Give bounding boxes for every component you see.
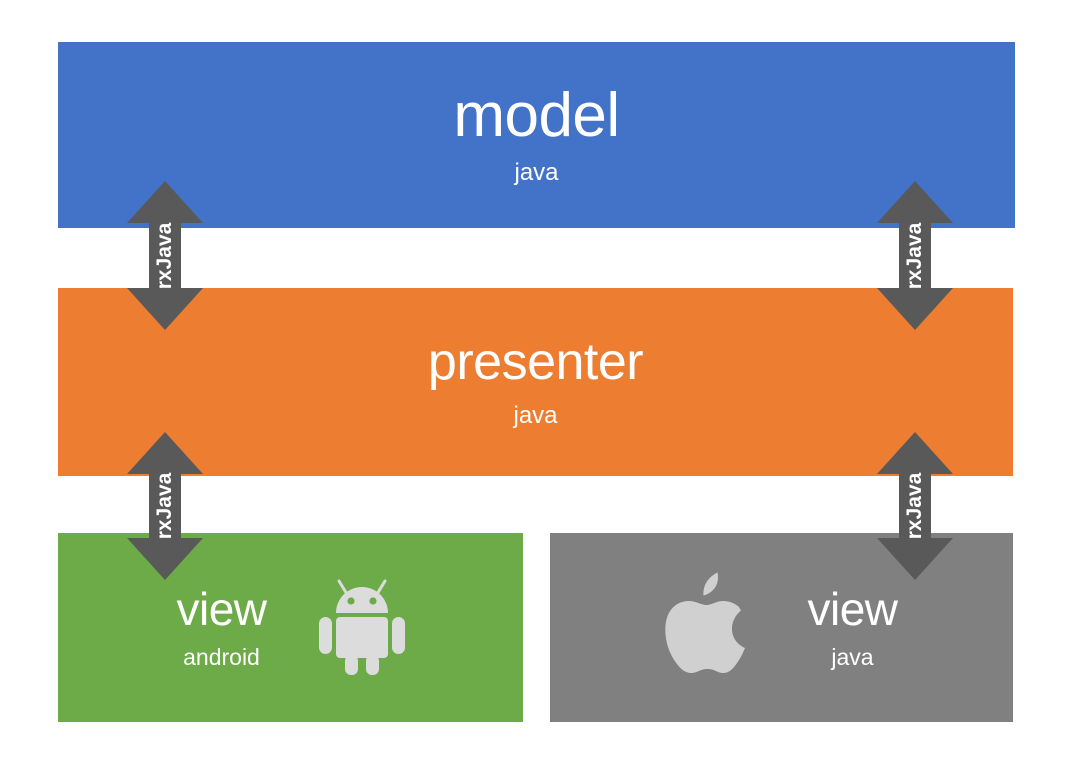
layer-title-presenter: presenter (428, 336, 643, 388)
connector-arrow-presenter-view-right[interactable]: rxJava (875, 432, 955, 580)
layer-subtitle-view-android: android (183, 646, 260, 669)
layer-subtitle-view-java: java (831, 646, 873, 669)
layer-title-view-android: view (176, 586, 266, 632)
view-android-textblock: view android (176, 586, 266, 669)
apple-logo-icon (665, 571, 751, 678)
layer-title-model: model (453, 85, 619, 147)
diagram-canvas: model java presenter java view android (0, 0, 1066, 772)
view-java-textblock: view java (807, 586, 897, 669)
connector-arrow-model-presenter-left[interactable]: rxJava (125, 181, 205, 330)
layer-subtitle-presenter: java (513, 404, 557, 428)
layer-subtitle-model: java (514, 161, 558, 185)
connector-arrow-model-presenter-right[interactable]: rxJava (875, 181, 955, 330)
layer-title-view-java: view (807, 586, 897, 632)
connector-arrow-presenter-view-left[interactable]: rxJava (125, 432, 205, 580)
android-robot-icon (319, 579, 405, 680)
